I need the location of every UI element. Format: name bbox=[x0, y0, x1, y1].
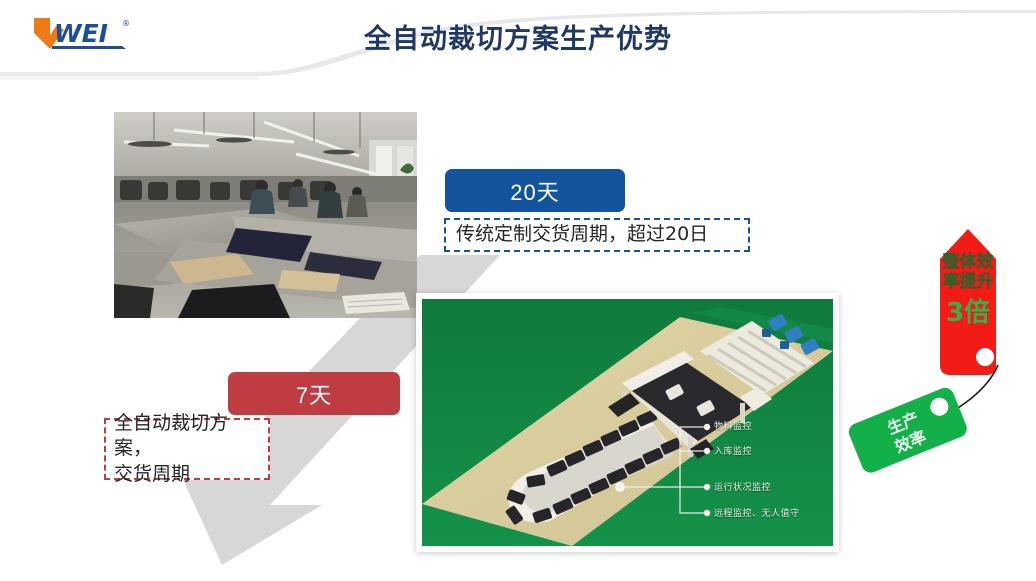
automated-lead-time-badge[interactable]: 7天 bbox=[228, 372, 400, 415]
traditional-caption-text: 传统定制交货周期，超过20日 bbox=[456, 222, 708, 248]
automated-lead-time-label: 7天 bbox=[296, 378, 332, 410]
factory-floor-photo bbox=[114, 112, 417, 318]
callout-label-3: 远程监控、无人值守 bbox=[714, 506, 800, 519]
efficiency-tag-group bbox=[840, 215, 1036, 505]
callout-label-1: 入库监控 bbox=[714, 444, 752, 457]
traditional-lead-time-caption: 传统定制交货周期，超过20日 bbox=[444, 218, 750, 252]
automated-caption-line2: 交货周期 bbox=[114, 462, 190, 488]
automatic-cutting-machine-photo: 物料监控 入库监控 运行状况监控 远程监控、无人值守 bbox=[416, 293, 839, 552]
automated-lead-time-caption: 全自动裁切方案， 交货周期 bbox=[104, 418, 270, 480]
red-efficiency-tag bbox=[940, 229, 996, 375]
traditional-lead-time-badge[interactable]: 20天 bbox=[445, 169, 625, 212]
traditional-lead-time-label: 20天 bbox=[510, 175, 559, 207]
callout-label-2: 运行状况监控 bbox=[714, 480, 771, 493]
automated-caption-line1: 全自动裁切方案， bbox=[114, 411, 260, 462]
slide-canvas: WEI ® 全自动裁切方案生产优势 bbox=[0, 0, 1036, 581]
page-title: 全自动裁切方案生产优势 bbox=[0, 17, 1036, 56]
callout-label-0: 物料监控 bbox=[714, 419, 752, 432]
green-production-tag bbox=[846, 385, 969, 475]
